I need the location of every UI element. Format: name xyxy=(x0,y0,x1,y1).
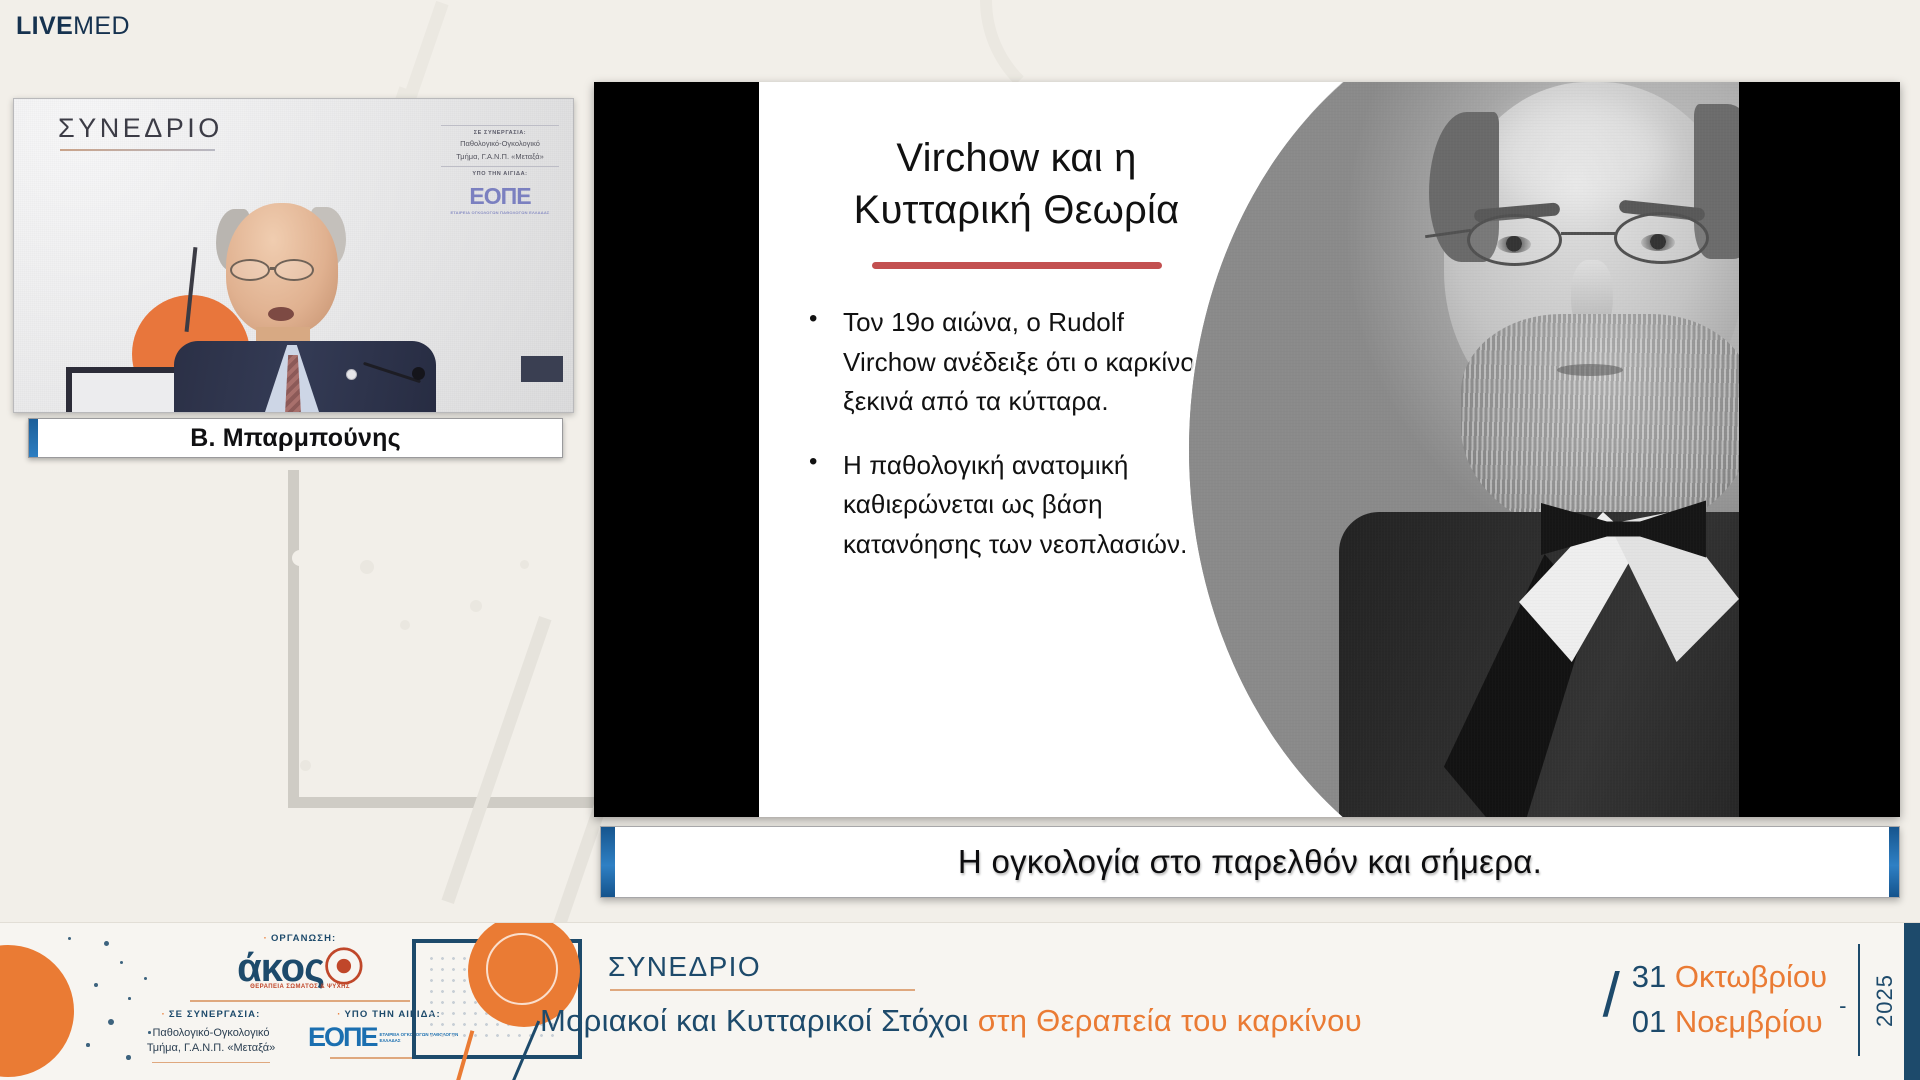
footer-event-kicker-rule xyxy=(610,989,915,991)
slide-bullet-item: • Η παθολογική ανατομική καθιερώνεται ως… xyxy=(809,446,1224,565)
date-line-start: 31 Οκτωβρίου xyxy=(1632,955,1827,1000)
backdrop-rule-1 xyxy=(441,125,559,126)
event-footer: ·ΟΡΓΑΝΩΣΗ: άκος⦿ ΘΕΡΑΠΕΙΑ ΣΩΜΑΤΟΣ & ΨΥΧΗ… xyxy=(0,922,1920,1080)
livemed-logo-light: MED xyxy=(73,12,130,40)
livemed-logo-bold: LIVE xyxy=(16,12,73,40)
livemed-logo: LIVEMED xyxy=(16,14,130,39)
bg-slash-1 xyxy=(442,616,552,904)
slide-bullet-item: • Τον 19ο αιώνα, ο Rudolf Virchow ανέδει… xyxy=(809,303,1224,422)
footer-splat-ring xyxy=(486,933,558,1005)
bullet-text: Τον 19ο αιώνα, ο Rudolf Virchow ανέδειξε… xyxy=(843,303,1224,422)
bg-square-tick xyxy=(288,470,299,490)
footer-organizer-rule xyxy=(190,1000,410,1002)
backdrop-partner-line-1: Παθολογικό-Ογκολογικό xyxy=(441,139,559,149)
date-range-dash: - xyxy=(1839,993,1846,1019)
webcast-stage: LIVEMED ΣΥΝΕΔΡΙΟ ΣΕ ΣΥΝΕΡΓΑΣΙΑ: Παθολογι… xyxy=(0,0,1920,1080)
date-slash-separator: / xyxy=(1603,965,1620,1027)
bg-faint-dot-5 xyxy=(300,760,311,771)
speaker-name-bar: Β. Μπαρμπούνης xyxy=(28,418,563,458)
bg-faint-dot-4 xyxy=(520,560,529,569)
footer-organizer-kicker-text: ΟΡΓΑΝΩΣΗ: xyxy=(271,933,336,944)
slide-viewer[interactable]: Virchow και η Κυτταρική Θεωρία • Τον 19ο… xyxy=(594,82,1900,817)
backdrop-credits: ΣΕ ΣΥΝΕΡΓΑΣΙΑ: Παθολογικό-Ογκολογικό Τμή… xyxy=(441,121,559,215)
backdrop-synedrio-rule xyxy=(60,149,215,151)
portrait-film-grain xyxy=(1189,82,1739,817)
footer-cooperation-line-1: Παθολογικό-Ογκολογικό xyxy=(130,1026,292,1041)
footer-event-title-navy: Μοριακοί και Κυτταρικοί Στόχοι xyxy=(540,1003,969,1038)
bg-slash-3 xyxy=(400,1,448,109)
bg-faint-dot-3 xyxy=(470,600,482,612)
footer-date-block: / 31 Οκτωβρίου 01 Νοεμβρίου - 2025 xyxy=(1603,941,1898,1059)
kicker-tick-icon: · xyxy=(264,933,268,944)
footer-cooperation-block: ·ΣΕ ΣΥΝΕΡΓΑΣΙΑ: Παθολογικό-Ογκολογικό Τμ… xyxy=(130,1009,292,1063)
footer-organizer-kicker: ·ΟΡΓΑΝΩΣΗ: xyxy=(145,933,455,944)
footer-organizer-block: ·ΟΡΓΑΝΩΣΗ: άκος⦿ ΘΕΡΑΠΕΙΑ ΣΩΜΑΤΟΣ & ΨΥΧΗ… xyxy=(145,933,455,1002)
virchow-portrait-photo xyxy=(1189,82,1739,817)
bullet-marker-icon: • xyxy=(809,446,843,565)
bullet-text: Η παθολογική ανατομική καθιερώνεται ως β… xyxy=(843,446,1224,565)
akos-logo: άκος⦿ ΘΕΡΑΠΕΙΑ ΣΩΜΑΤΟΣ & ΨΥΧΗΣ xyxy=(145,948,455,994)
backdrop-box-right xyxy=(521,356,563,382)
footer-cooperation-line-2: Τμήμα, Γ.Α.Ν.Π. «Μεταξά» xyxy=(130,1041,292,1056)
date-start-month: Οκτωβρίου xyxy=(1675,959,1827,994)
speaker-figure xyxy=(164,203,446,413)
footer-cooperation-kicker-text: ΣΕ ΣΥΝΕΡΓΑΣΙΑ: xyxy=(169,1009,261,1020)
date-start-day: 31 xyxy=(1632,959,1666,994)
microphone-head xyxy=(412,367,425,380)
footer-event-title-orange: στη Θεραπεία του καρκίνου xyxy=(978,1003,1362,1038)
backdrop-partner-line-2: Τμήμα, Γ.Α.Ν.Π. «Μεταξά» xyxy=(441,152,559,162)
bg-dot xyxy=(292,550,308,566)
session-caption-text: Η ογκολογία στο παρελθόν και σήμερα. xyxy=(958,843,1542,881)
backdrop-partner-kicker: ΣΕ ΣΥΝΕΡΓΑΣΙΑ: xyxy=(441,130,559,136)
backdrop-rule-2 xyxy=(441,166,559,167)
speaker-name-text: Β. Μπαρμπούνης xyxy=(190,424,401,453)
slide-title-accent-rule xyxy=(872,262,1162,269)
backdrop-eope-mark: ΕΟΠΕ xyxy=(469,183,530,209)
footer-event-title: Μοριακοί και Κυτταρικοί Στόχοι στη Θεραπ… xyxy=(540,1003,1362,1039)
portrait-ellipse-mask xyxy=(1189,82,1739,817)
slide-bullet-list: • Τον 19ο αιώνα, ο Rudolf Virchow ανέδει… xyxy=(809,303,1224,564)
slide-portrait-region xyxy=(1189,82,1739,817)
speaker-video-panel[interactable]: ΣΥΝΕΔΡΙΟ ΣΕ ΣΥΝΕΡΓΑΣΙΑ: Παθολογικό-Ογκολ… xyxy=(13,98,574,413)
footer-event-block: ΣΥΝΕΔΡΙΟ Μοριακοί και Κυτταρικοί Στόχοι … xyxy=(412,937,1512,1067)
footer-cooperation-kicker: ·ΣΕ ΣΥΝΕΡΓΑΣΙΑ: xyxy=(130,1009,292,1020)
session-caption-bar: Η ογκολογία στο παρελθόν και σήμερα. xyxy=(600,826,1900,898)
footer-event-kicker: ΣΥΝΕΔΡΙΟ xyxy=(608,951,761,983)
bg-faint-dot-2 xyxy=(400,620,410,630)
date-year: 2025 xyxy=(1872,974,1898,1027)
bg-square-outline xyxy=(288,478,618,808)
backdrop-auspices-kicker: ΥΠΟ ΤΗΝ ΑΙΓΙΔΑ: xyxy=(441,171,559,177)
eope-logo-wordmark: ΕΟΠΕ xyxy=(308,1024,377,1051)
date-line-end: 01 Νοεμβρίου xyxy=(1632,1000,1827,1045)
footer-right-edge-bar xyxy=(1904,923,1920,1080)
speaker-glasses-right xyxy=(274,259,314,281)
date-end-month: Νοεμβρίου xyxy=(1675,1004,1823,1039)
speaker-glasses-left xyxy=(230,259,270,281)
backdrop-eope-sub: ΕΤΑΙΡΕΙΑ ΟΓΚΟΛΟΓΩΝ ΠΑΘΟΛΟΓΩΝ ΕΛΛΑΔΑΣ xyxy=(441,210,559,215)
kicker-tick-icon: · xyxy=(162,1009,166,1020)
date-year-divider xyxy=(1858,944,1860,1056)
backdrop-eope-logo: ΕΟΠΕ ΕΤΑΙΡΕΙΑ ΟΓΚΟΛΟΓΩΝ ΠΑΘΟΛΟΓΩΝ ΕΛΛΑΔΑ… xyxy=(441,183,559,215)
footer-cooperation-rule xyxy=(152,1062,270,1064)
date-lines: 31 Οκτωβρίου 01 Νοεμβρίου xyxy=(1632,955,1827,1045)
akos-logo-tagline: ΘΕΡΑΠΕΙΑ ΣΩΜΑΤΟΣ & ΨΥΧΗΣ xyxy=(145,984,455,990)
slide-title: Virchow και η Κυτταρική Θεωρία xyxy=(809,132,1224,236)
speaker-mouth xyxy=(268,307,294,321)
speaker-lapel-pin xyxy=(346,369,357,380)
backdrop-synedrio-label: ΣΥΝΕΔΡΙΟ xyxy=(58,113,223,144)
bg-faint-dot-1 xyxy=(360,560,374,574)
date-end-day: 01 xyxy=(1632,1004,1666,1039)
slide-canvas: Virchow και η Κυτταρική Θεωρία • Τον 19ο… xyxy=(759,82,1739,817)
akos-logo-wordmark: άκος⦿ xyxy=(145,948,455,988)
bullet-marker-icon: • xyxy=(809,303,843,422)
speaker-glasses-bridge xyxy=(270,267,276,270)
kicker-tick-icon: · xyxy=(337,1009,341,1020)
